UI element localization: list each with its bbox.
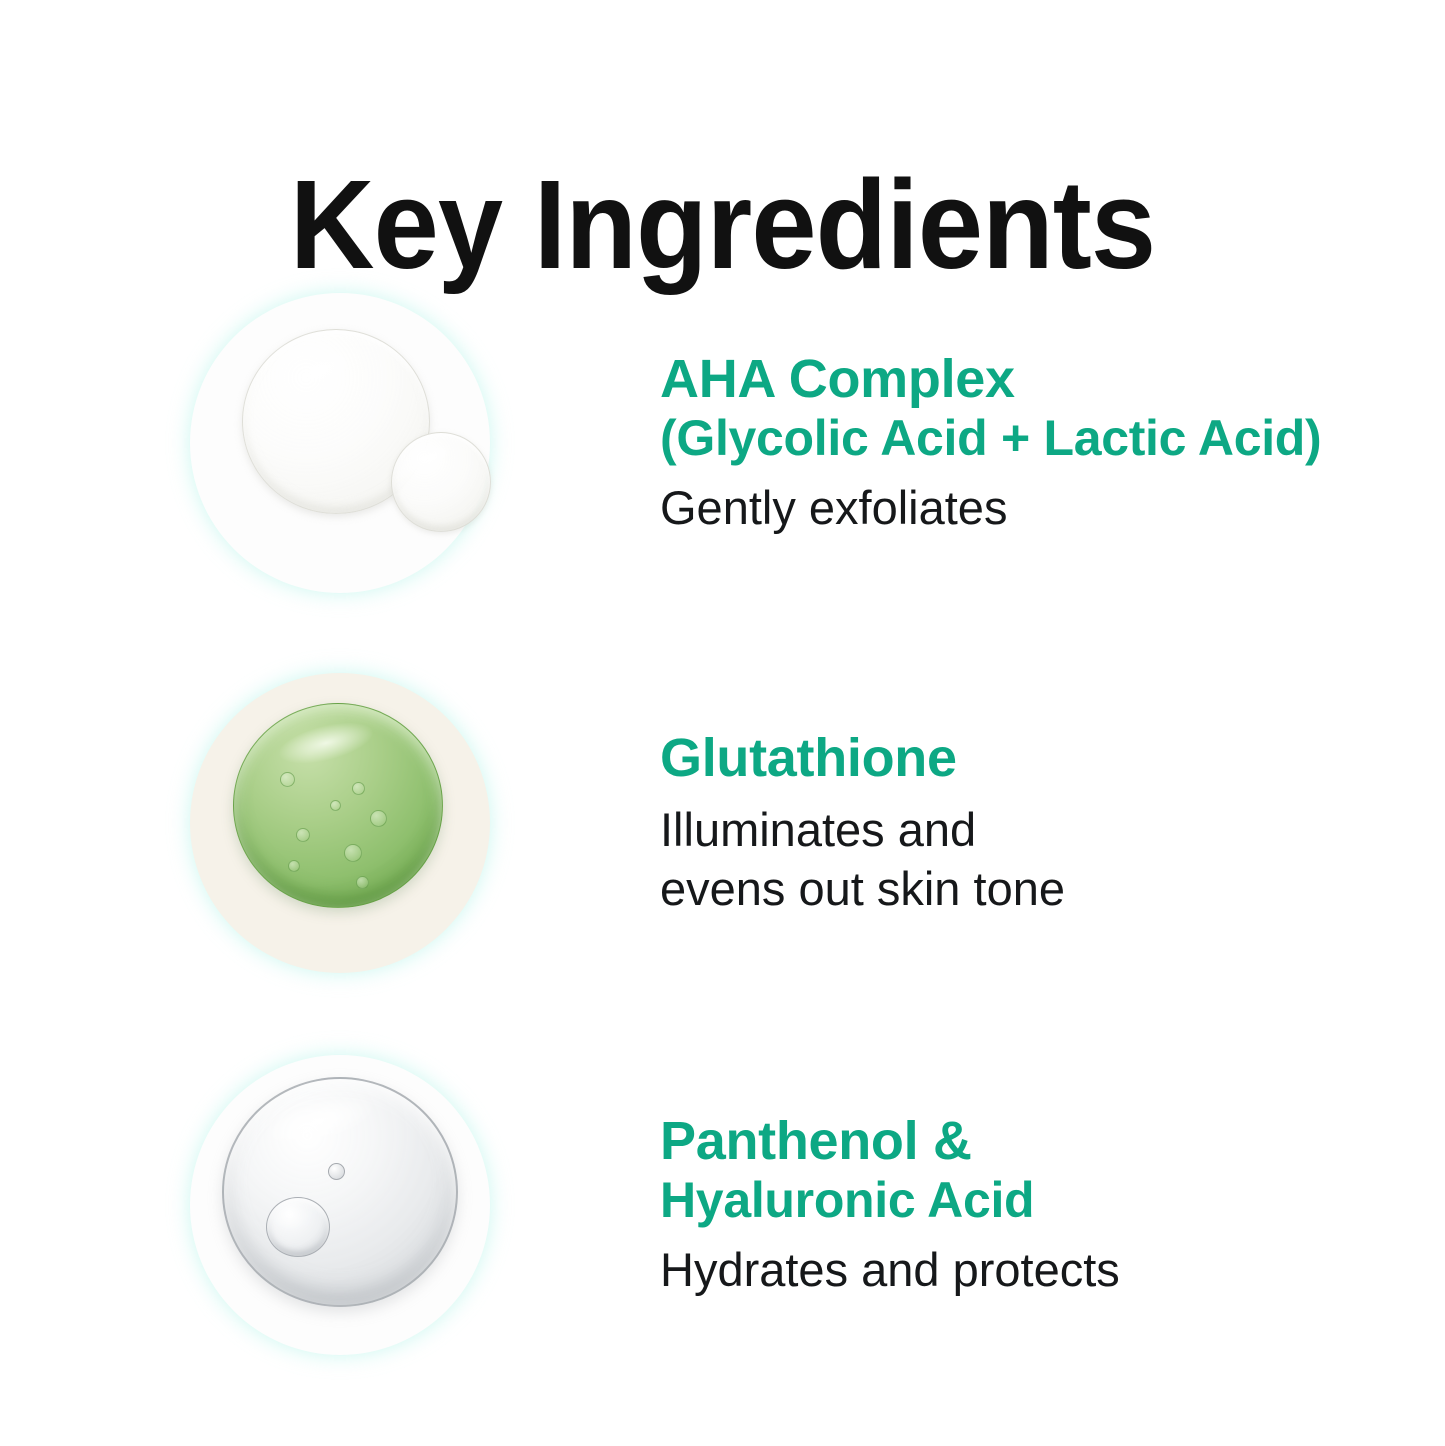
page-title: Key Ingredients bbox=[51, 158, 1395, 292]
ingredient-name: Glutathione bbox=[660, 728, 957, 788]
gel-bubble bbox=[344, 844, 362, 862]
droplet-highlight bbox=[275, 715, 376, 771]
ingredient-art-panthenol-hyaluronic-acid bbox=[160, 1035, 520, 1375]
water-droplet-icon bbox=[222, 1077, 458, 1307]
ingredient-art-aha-complex bbox=[160, 273, 520, 613]
key-ingredients-infographic: Key Ingredients AHA Complex (Glycolic Ac… bbox=[0, 0, 1445, 1446]
green-gel-droplet-icon bbox=[233, 703, 443, 908]
ingredient-subtitle: (Glycolic Acid + Lactic Acid) bbox=[660, 410, 1385, 467]
ingredient-row-panthenol-hyaluronic-acid: Panthenol & Hyaluronic Acid Hydrates and… bbox=[0, 1035, 1445, 1375]
ingredient-art-glutathione bbox=[160, 653, 520, 993]
clear-droplet-small-icon bbox=[391, 432, 491, 532]
ingredient-description-line-1: Illuminates and bbox=[660, 803, 976, 856]
gel-bubble bbox=[288, 860, 300, 872]
ingredient-subtitle: Hyaluronic Acid bbox=[660, 1172, 1385, 1229]
ingredient-row-aha-complex: AHA Complex (Glycolic Acid + Lactic Acid… bbox=[0, 273, 1445, 613]
droplet-highlight bbox=[261, 1086, 380, 1155]
inner-droplet bbox=[266, 1197, 330, 1257]
ingredient-row-glutathione: Glutathione Illuminates and evens out sk… bbox=[0, 653, 1445, 993]
ingredient-name: AHA Complex bbox=[660, 349, 1015, 409]
ingredient-description: Gently exfoliates bbox=[660, 479, 1385, 538]
ingredient-description-line-1: Gently exfoliates bbox=[660, 481, 1007, 534]
ingredient-heading: Glutathione bbox=[660, 728, 1385, 789]
ingredient-description: Hydrates and protects bbox=[660, 1241, 1385, 1300]
ingredient-description-line-2: evens out skin tone bbox=[660, 860, 1385, 919]
ingredient-heading: Panthenol & Hyaluronic Acid bbox=[660, 1111, 1385, 1229]
ingredient-text-panthenol-hyaluronic-acid: Panthenol & Hyaluronic Acid Hydrates and… bbox=[520, 1111, 1445, 1300]
gel-bubble bbox=[330, 800, 341, 811]
droplet-highlight bbox=[410, 439, 455, 475]
ingredient-heading: AHA Complex (Glycolic Acid + Lactic Acid… bbox=[660, 349, 1385, 467]
ingredient-description-line-1: Hydrates and protects bbox=[660, 1243, 1120, 1296]
ingredient-disc bbox=[190, 673, 490, 973]
gel-bubble bbox=[352, 782, 365, 795]
gel-bubble bbox=[296, 828, 310, 842]
ingredient-description: Illuminates and evens out skin tone bbox=[660, 801, 1385, 919]
ingredient-disc bbox=[190, 1055, 490, 1355]
droplet-highlight bbox=[278, 339, 361, 404]
tiny-bubble bbox=[328, 1163, 345, 1180]
ingredient-text-aha-complex: AHA Complex (Glycolic Acid + Lactic Acid… bbox=[520, 349, 1445, 538]
gel-bubble bbox=[356, 876, 369, 889]
ingredient-disc bbox=[190, 293, 490, 593]
ingredient-name: Panthenol & bbox=[660, 1111, 972, 1171]
ingredient-text-glutathione: Glutathione Illuminates and evens out sk… bbox=[520, 728, 1445, 919]
gel-bubble bbox=[370, 810, 387, 827]
gel-bubble bbox=[280, 772, 295, 787]
